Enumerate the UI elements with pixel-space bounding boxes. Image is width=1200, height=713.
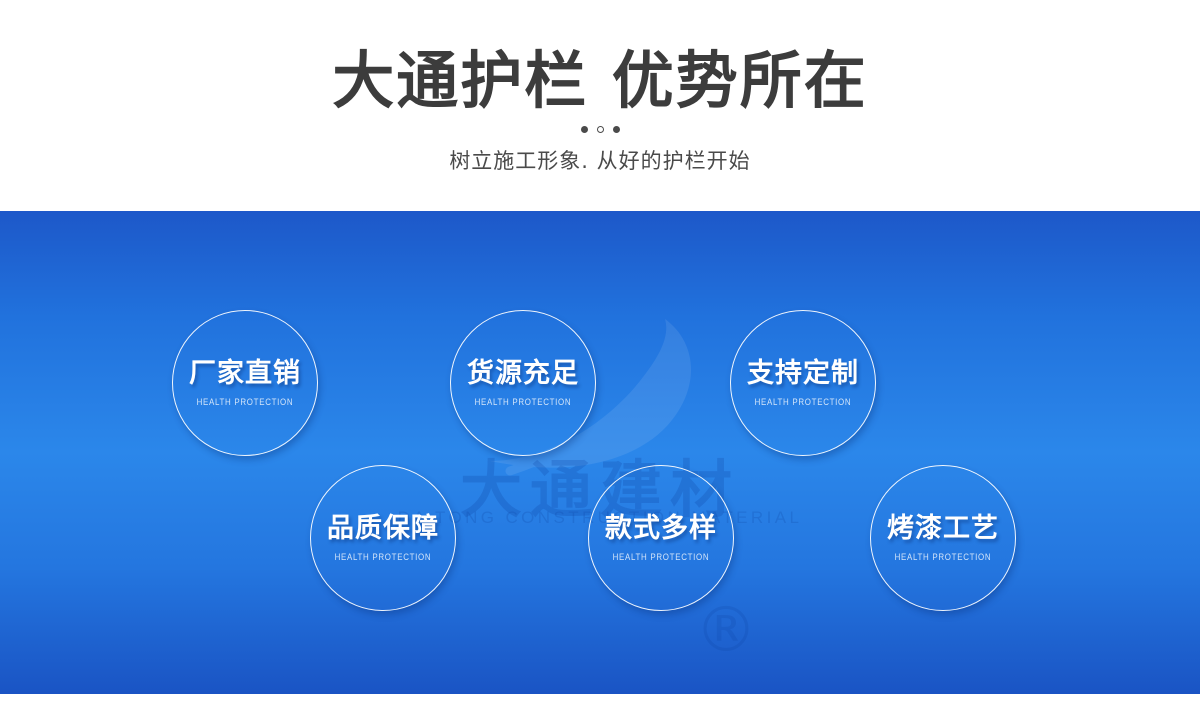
features-panel: 大通建材 DA TONG CONSTRUCTION MATERIAL ® 厂家直… [0,211,1200,694]
badge-sublabel: HEALTH PROTECTION [613,552,710,562]
badge-label: 款式多样 [605,515,717,542]
dot-filled-right-icon [613,126,620,133]
feature-badge-factory-direct[interactable]: 厂家直销 HEALTH PROTECTION [172,310,318,456]
badge-sublabel: HEALTH PROTECTION [475,397,572,407]
feature-badge-custom-support[interactable]: 支持定制 HEALTH PROTECTION [730,310,876,456]
page-title: 大通护栏 优势所在 [332,48,868,113]
badge-sublabel: HEALTH PROTECTION [895,552,992,562]
badge-label: 品质保障 [327,515,439,542]
badge-sublabel: HEALTH PROTECTION [335,552,432,562]
badge-label: 支持定制 [747,360,859,387]
feature-badge-ample-supply[interactable]: 货源充足 HEALTH PROTECTION [450,310,596,456]
dot-filled-left-icon [581,126,588,133]
banner-header: 大通护栏 优势所在 树立施工形象. 从好的护栏开始 [0,0,1200,211]
dot-hollow-center-icon [597,126,604,133]
registered-trademark-icon: ® [695,599,757,661]
brand-watermark: 大通建材 DA TONG CONSTRUCTION MATERIAL ® [0,211,1200,694]
badge-sublabel: HEALTH PROTECTION [197,397,294,407]
feature-badge-baked-paint-process[interactable]: 烤漆工艺 HEALTH PROTECTION [870,465,1016,611]
feature-badge-quality-assurance[interactable]: 品质保障 HEALTH PROTECTION [310,465,456,611]
promo-banner: 大通护栏 优势所在 树立施工形象. 从好的护栏开始 大通建材 DA TONG C… [0,0,1200,713]
dot-separator [581,123,620,135]
badge-label: 货源充足 [467,360,579,387]
badge-label: 烤漆工艺 [887,515,999,542]
page-subtitle: 树立施工形象. 从好的护栏开始 [449,145,750,175]
badge-sublabel: HEALTH PROTECTION [755,397,852,407]
badge-label: 厂家直销 [189,360,301,387]
feature-badge-varied-styles[interactable]: 款式多样 HEALTH PROTECTION [588,465,734,611]
